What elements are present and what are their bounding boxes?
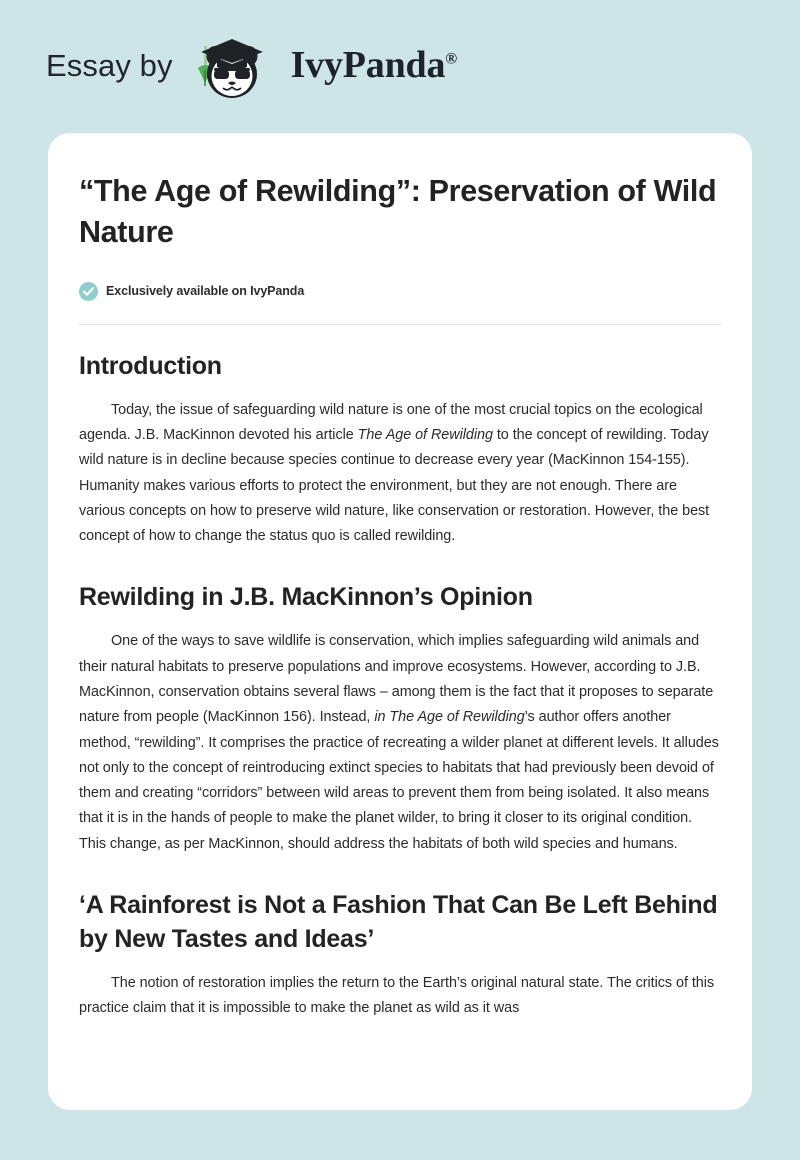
registered-trademark-icon: ®: [445, 50, 457, 67]
brand-name-text: IvyPanda: [291, 44, 446, 86]
essay-by-label: Essay by: [46, 50, 173, 83]
section-paragraph-rainforest-quote: The notion of restoration implies the re…: [79, 971, 721, 1022]
section-heading-rainforest-quote: ‘A Rainforest is Not a Fashion That Can …: [79, 888, 721, 956]
section-heading-introduction: Introduction: [79, 349, 721, 383]
italic-title: in The Age of Rewilding: [374, 709, 524, 725]
check-circle-icon: [79, 282, 98, 301]
site-header: Essay by: [0, 0, 800, 133]
status-badge-label: Exclusively available on IvyPanda: [106, 284, 304, 298]
brand-wordmark: IvyPanda®: [291, 46, 457, 87]
header-divider: [79, 324, 721, 325]
section-paragraph-mackinnon-opinion: One of the ways to save wildlife is cons…: [79, 629, 721, 857]
status-badge: Exclusively available on IvyPanda: [79, 282, 721, 301]
section-paragraph-introduction: Today, the issue of safeguarding wild na…: [79, 398, 721, 550]
italic-title: The Age of Rewilding: [358, 427, 493, 443]
brand-lockup[interactable]: Essay by: [46, 30, 457, 104]
panda-graduate-logo-icon: [183, 30, 281, 104]
page-title: “The Age of Rewilding”: Preservation of …: [79, 171, 721, 253]
essay-card: “The Age of Rewilding”: Preservation of …: [48, 133, 752, 1110]
section-heading-mackinnon-opinion: Rewilding in J.B. MacKinnon’s Opinion: [79, 580, 721, 614]
